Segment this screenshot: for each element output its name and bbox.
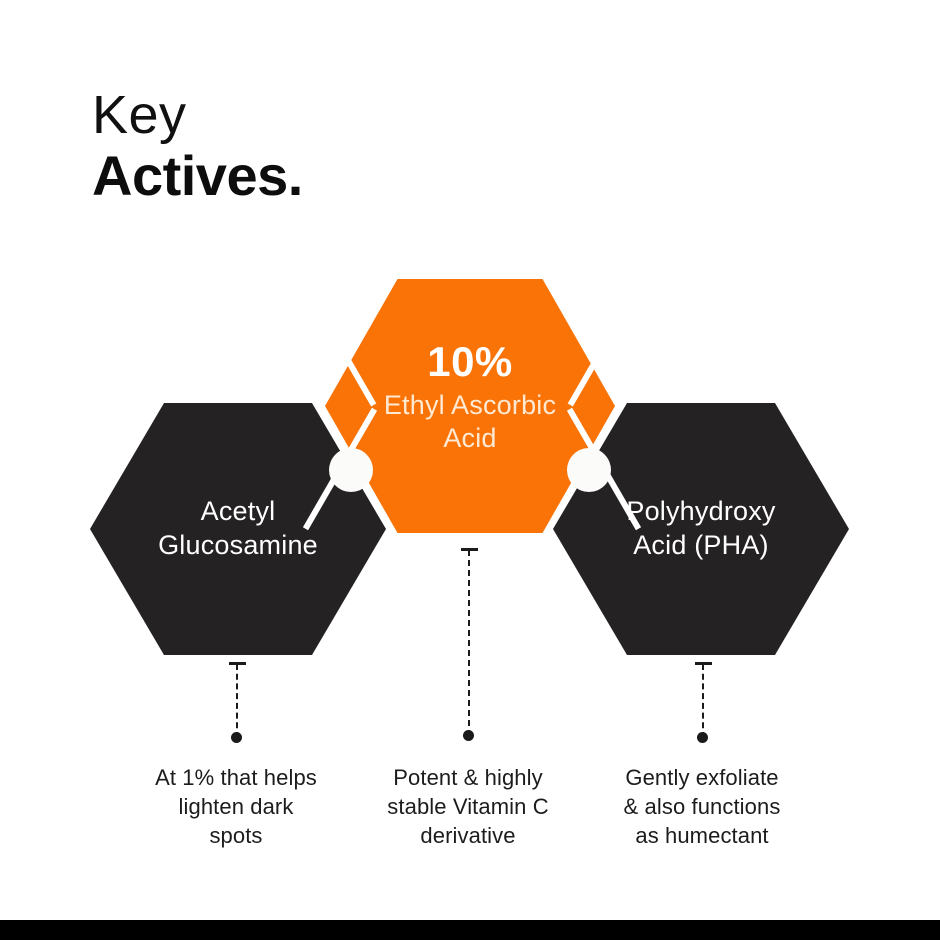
caption-left-line-3: spots — [209, 823, 262, 848]
caption-left-line-1: At 1% that helps — [155, 765, 317, 790]
hexagon-label-right: Polyhydroxy Acid (PHA) — [618, 495, 783, 563]
connector-dot-icon — [231, 732, 242, 743]
hexagon-label-center-line-1: Ethyl Ascorbic — [384, 390, 556, 420]
hexagon-label-right-line-2: Acid (PHA) — [633, 530, 769, 560]
hexagon-label-center-line-2: Acid — [443, 423, 496, 453]
infographic-canvas: Key Actives. Acetyl Glucosamine Polyhydr… — [0, 0, 940, 940]
connector-dashes — [236, 664, 238, 738]
caption-right-line-3: as humectant — [635, 823, 768, 848]
hexagon-joint-left-icon — [329, 448, 373, 492]
hexagon-label-center: 10% Ethyl Ascorbic Acid — [384, 340, 556, 455]
hexagon-joint-right-icon — [567, 448, 611, 492]
hexagon-label-left: Acetyl Glucosamine — [150, 495, 326, 563]
connector-dot-icon — [463, 730, 474, 741]
caption-left-line-2: lighten dark — [179, 794, 294, 819]
caption-acetyl-glucosamine: At 1% that helps lighten dark spots — [111, 763, 361, 850]
caption-polyhydroxy-acid: Gently exfoliate & also functions as hum… — [577, 763, 827, 850]
caption-center-line-2: stable Vitamin C — [387, 794, 548, 819]
hexagon-acetyl-glucosamine[interactable]: Acetyl Glucosamine — [90, 403, 386, 655]
hexagon-label-center-text: Ethyl Ascorbic Acid — [384, 389, 556, 455]
hexagon-label-left-line-2: Glucosamine — [158, 530, 318, 560]
connector-dashes — [702, 664, 704, 738]
connector-line-right — [702, 664, 703, 738]
connector-dashes — [468, 550, 470, 736]
connector-line-center — [468, 550, 469, 736]
connector-line-left — [236, 664, 237, 738]
bottom-bar — [0, 920, 940, 940]
caption-center-line-1: Potent & highly — [393, 765, 542, 790]
caption-center-line-3: derivative — [420, 823, 515, 848]
hexagon-label-left-line-1: Acetyl — [201, 496, 276, 526]
hexagon-polyhydroxy-acid[interactable]: Polyhydroxy Acid (PHA) — [553, 403, 849, 655]
connector-dot-icon — [697, 732, 708, 743]
percentage-badge: 10% — [427, 340, 513, 384]
caption-right-line-1: Gently exfoliate — [625, 765, 778, 790]
caption-right-line-2: & also functions — [624, 794, 781, 819]
hexagon-label-right-line-1: Polyhydroxy — [626, 496, 775, 526]
caption-ethyl-ascorbic-acid: Potent & highly stable Vitamin C derivat… — [343, 763, 593, 850]
